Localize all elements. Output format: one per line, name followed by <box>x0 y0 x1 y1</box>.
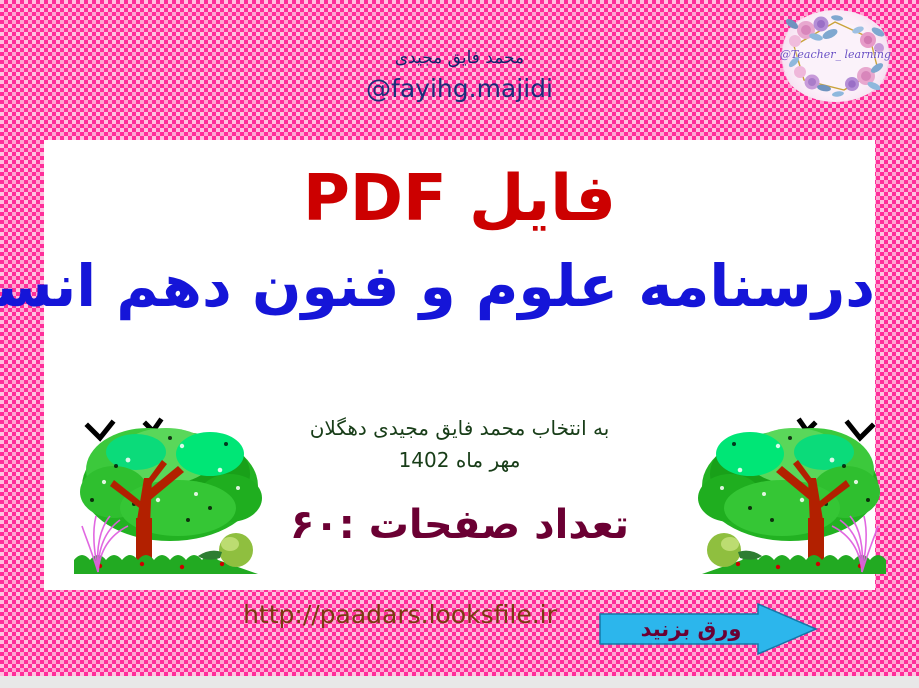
content-card: فایل PDF درسنامه علوم و فنون دهم انسانی … <box>44 140 875 590</box>
slide-canvas: محمد فایق مجیدی @fayihg.majidi <box>0 0 919 688</box>
tree-icon <box>690 408 890 583</box>
tree-icon <box>70 408 270 583</box>
page-subtitle: درسنامه علوم و فنون دهم انسانی <box>44 248 875 324</box>
website-url-text[interactable]: http://paadars.looksfile.ir <box>150 598 650 632</box>
page-title: فایل PDF <box>44 160 875 238</box>
badge-label-text: @Teacher_ learning <box>778 48 893 61</box>
bottom-gray-strip <box>0 676 919 688</box>
teacher-learning-badge[interactable]: @Teacher_ learning <box>778 10 893 102</box>
next-page-button[interactable]: ورق بزنید <box>598 602 818 656</box>
tree-illustration-left <box>70 408 270 583</box>
tree-illustration-right <box>690 408 890 583</box>
next-page-label: ورق بزنید <box>616 615 766 643</box>
